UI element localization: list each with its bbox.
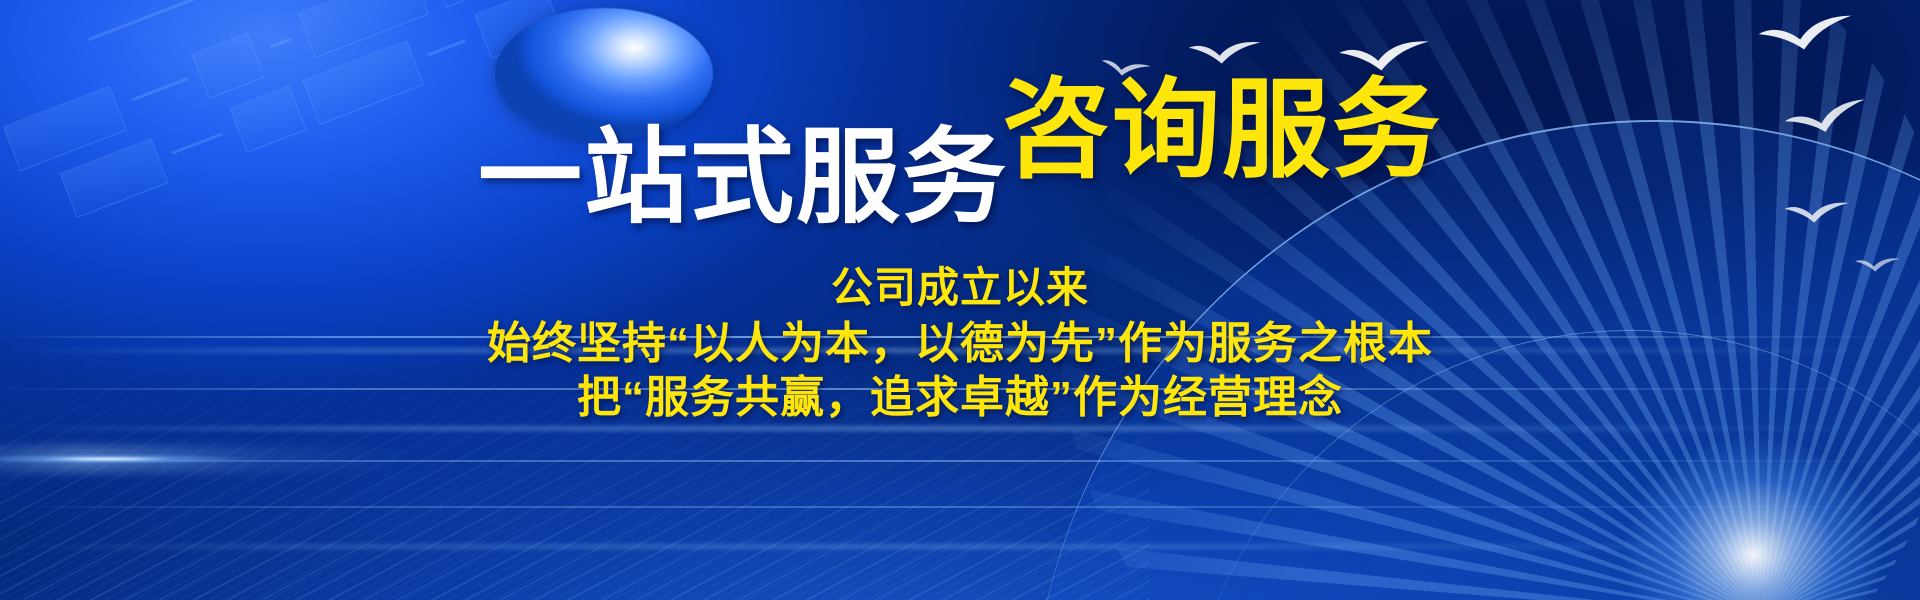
glossy-sphere-icon: [495, 8, 713, 140]
lens-flare-streak: [0, 454, 280, 464]
banner-canvas: 一站式服务 咨询服务 公司成立以来 始终坚持“以人为本，以德为先”作为服务之根本…: [0, 0, 1920, 600]
seagull-icon: [1187, 37, 1265, 68]
seagull-icon: [1783, 198, 1854, 227]
seagull-icon: [1854, 256, 1903, 275]
